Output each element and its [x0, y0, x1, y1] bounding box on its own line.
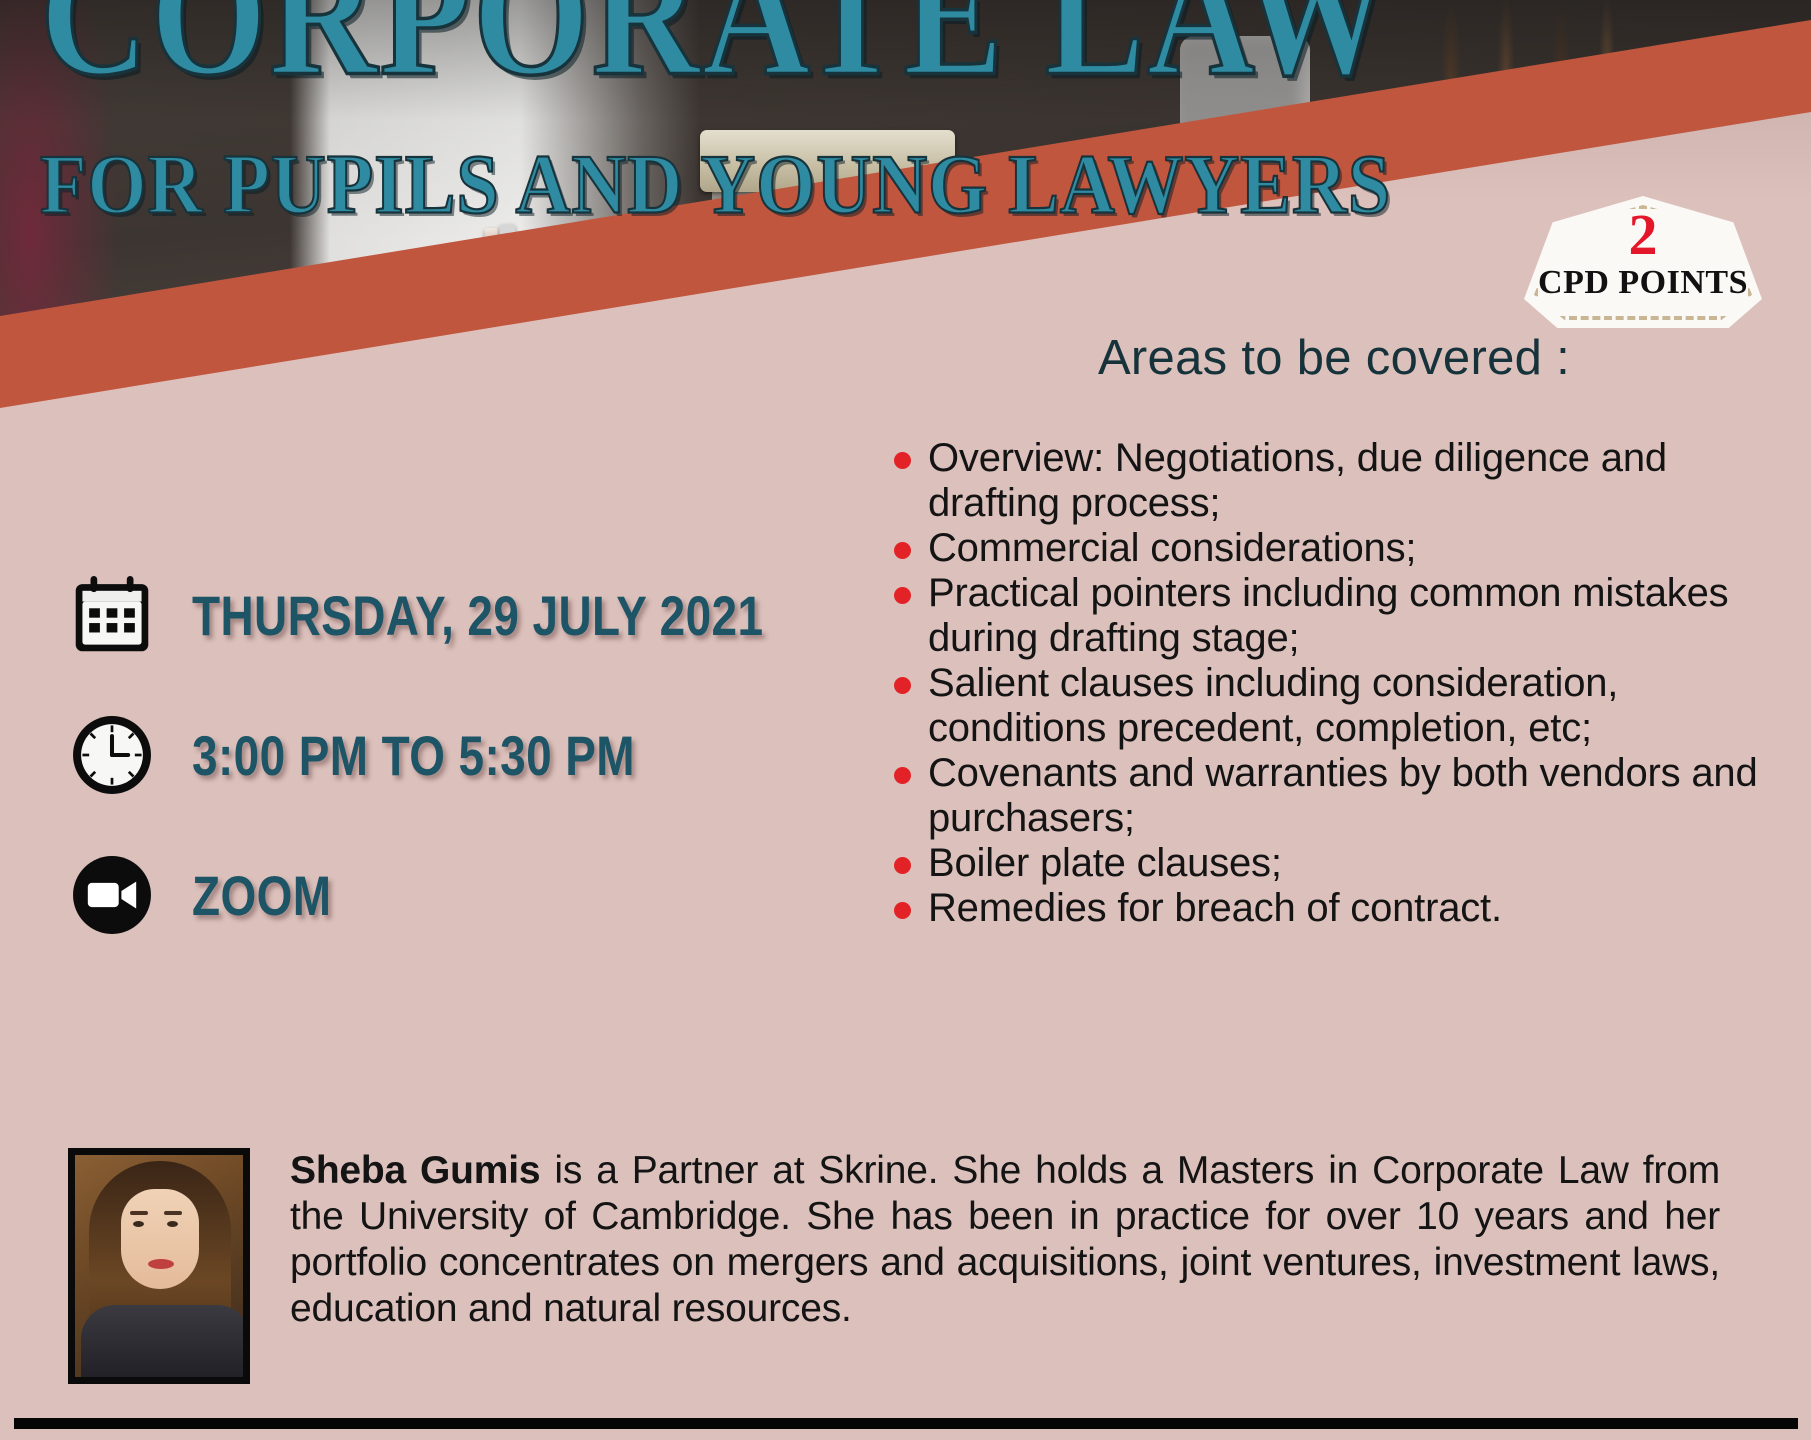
portrait-suit — [81, 1305, 250, 1377]
portrait-brow-left — [130, 1211, 148, 1215]
portrait-eye-right — [167, 1221, 178, 1227]
areas-list: Overview: Negotiations, due diligence an… — [884, 436, 1784, 931]
speaker-name: Sheba Gumis — [290, 1149, 540, 1192]
video-camera-icon — [66, 852, 158, 938]
speaker-bio: Sheba Gumis is a Partner at Skrine. She … — [68, 1148, 1768, 1384]
speaker-bio-text: Sheba Gumis is a Partner at Skrine. She … — [290, 1148, 1720, 1384]
list-item: Commercial considerations; — [884, 526, 1784, 571]
portrait-lips — [148, 1259, 174, 1269]
cpd-points-badge: 2 CPD POINTS — [1524, 196, 1762, 328]
event-time: 3:00 PM TO 5:30 PM — [192, 723, 635, 788]
portrait-eye-left — [133, 1221, 144, 1227]
clock-icon — [66, 712, 158, 798]
list-item: Covenants and warranties by both vendors… — [884, 751, 1784, 841]
list-item: Salient clauses including consideration,… — [884, 661, 1784, 751]
areas-to-be-covered: Areas to be covered : Overview: Negotiat… — [884, 330, 1784, 931]
detail-row-date: THURSDAY, 29 JULY 2021 — [66, 556, 889, 674]
poster-canvas: CORPORATE LAW FOR PUPILS AND YOUNG LAWYE… — [0, 0, 1811, 1440]
portrait-brow-right — [164, 1211, 182, 1215]
event-date: THURSDAY, 29 JULY 2021 — [192, 583, 763, 648]
list-item: Boiler plate clauses; — [884, 841, 1784, 886]
page-title: CORPORATE LAW — [40, 0, 1400, 103]
avatar — [68, 1148, 250, 1384]
page-subtitle: FOR PUPILS AND YOUNG LAWYERS — [40, 142, 1400, 227]
list-item: Overview: Negotiations, due diligence an… — [884, 436, 1784, 526]
cpd-points-value: 2 — [1524, 206, 1762, 264]
cpd-points-label: CPD POINTS — [1524, 264, 1762, 302]
detail-row-time: 3:00 PM TO 5:30 PM — [66, 696, 889, 814]
areas-heading: Areas to be covered : — [884, 330, 1784, 386]
event-details: THURSDAY, 29 JULY 2021 — [66, 556, 889, 976]
calendar-icon — [66, 572, 158, 658]
list-item: Remedies for breach of contract. — [884, 886, 1784, 931]
portrait-face — [121, 1189, 199, 1289]
event-platform: ZOOM — [192, 863, 331, 928]
list-item: Practical pointers including common mist… — [884, 571, 1784, 661]
bottom-divider — [14, 1418, 1798, 1429]
detail-row-platform: ZOOM — [66, 836, 889, 954]
poster-title-block: CORPORATE LAW FOR PUPILS AND YOUNG LAWYE… — [0, 0, 1400, 218]
